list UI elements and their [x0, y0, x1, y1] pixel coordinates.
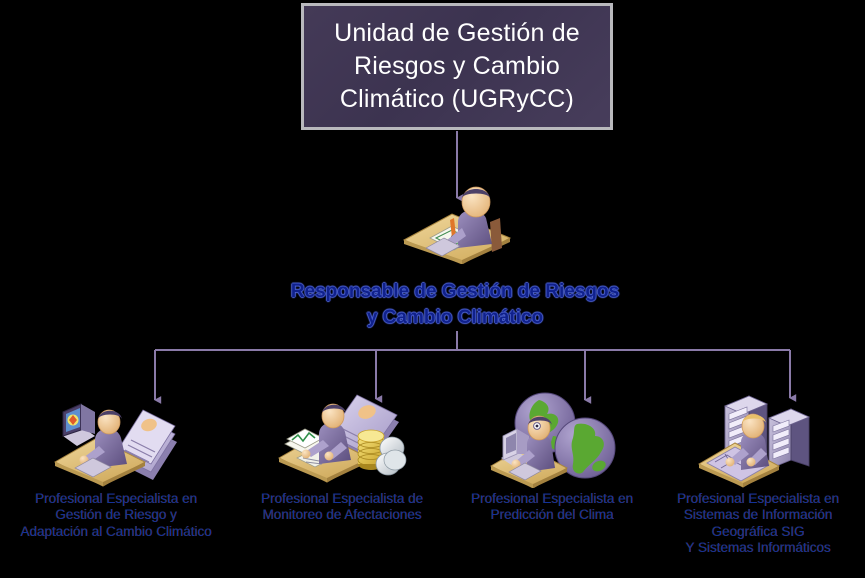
node-label: Profesional Especialista de Monitoreo de…	[261, 491, 423, 524]
node-label: Profesional Especialista en Predicción d…	[471, 491, 633, 524]
person-with-charts-and-coins-icon	[275, 392, 409, 488]
person-with-server-racks-icon	[691, 392, 825, 488]
node-gestion-riesgo: Profesional Especialista en Gestión de R…	[8, 392, 224, 540]
node-sistemas-sig: Profesional Especialista en Sistemas de …	[650, 392, 865, 557]
person-at-computer-with-documents-icon	[49, 392, 183, 488]
node-monitoreo-afectaciones: Profesional Especialista de Monitoreo de…	[234, 392, 450, 524]
person-with-globes-icon	[485, 392, 619, 488]
unit-title-box: Unidad de Gestión de Riesgos y Cambio Cl…	[301, 3, 613, 130]
node-label: Profesional Especialista en Gestión de R…	[20, 491, 211, 540]
page-title: Unidad de Gestión de Riesgos y Cambio Cl…	[326, 17, 588, 116]
responsable-label: Responsable de Gestión de Riesgos y Camb…	[205, 279, 705, 330]
org-chart-canvas: Unidad de Gestión de Riesgos y Cambio Cl…	[0, 0, 865, 578]
node-prediccion-clima: Profesional Especialista en Predicción d…	[444, 392, 660, 524]
responsable-desk-icon	[396, 176, 518, 264]
node-label: Profesional Especialista en Sistemas de …	[677, 491, 839, 557]
